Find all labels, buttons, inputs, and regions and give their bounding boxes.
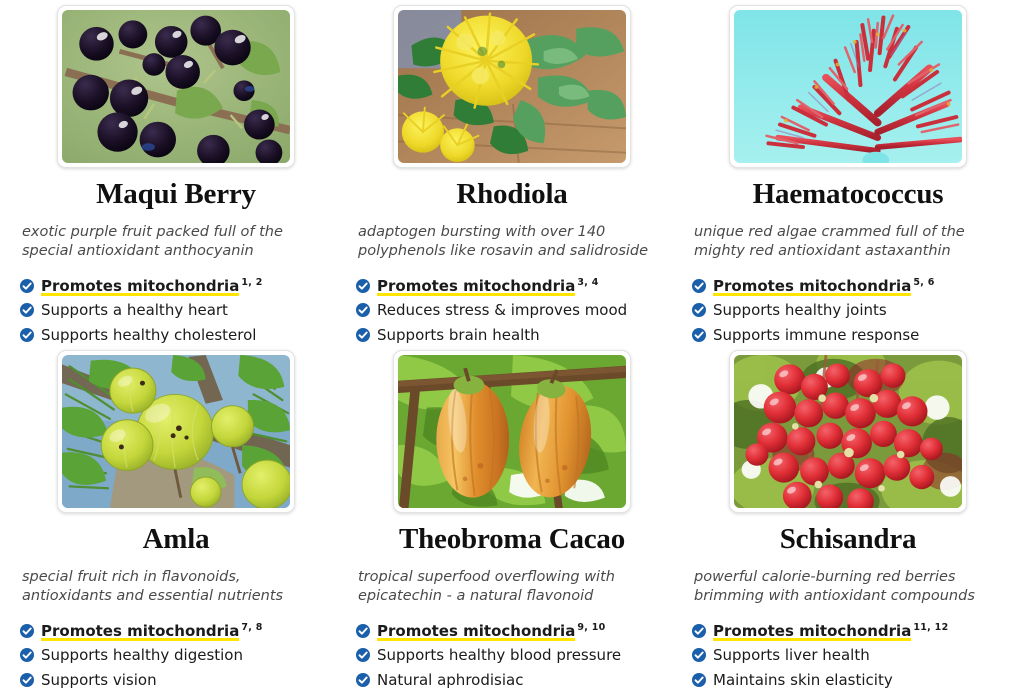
ingredient-card: Rhodiola adaptogen bursting with over 14… bbox=[344, 0, 680, 345]
benefit-item: Natural aphrodisiac bbox=[356, 670, 668, 691]
ingredient-title: Schisandra bbox=[692, 524, 1004, 555]
benefit-item: Supports healthy joints bbox=[692, 300, 1004, 321]
reference-superscript: 3, 4 bbox=[577, 277, 598, 288]
ingredient-card: Haematococcus unique red algae crammed f… bbox=[680, 0, 1016, 345]
benefit-item: Maintains skin elasticity bbox=[692, 670, 1004, 691]
benefit-item: Reduces stress & improves mood bbox=[356, 300, 668, 321]
ingredient-description: tropical superfood overflowing with epic… bbox=[356, 568, 668, 606]
ingredient-title: Rhodiola bbox=[356, 179, 668, 210]
schisandra-photo bbox=[734, 355, 962, 508]
ingredient-card: Theobroma Cacao tropical superfood overf… bbox=[344, 345, 680, 700]
reference-superscript: 11, 12 bbox=[913, 622, 948, 633]
ingredient-title: Theobroma Cacao bbox=[356, 524, 668, 555]
ingredient-card: Schisandra powerful calorie-burning red … bbox=[680, 345, 1016, 700]
primary-benefit-item: Promotes mitochondria3, 4 bbox=[356, 276, 668, 297]
benefit-list: Promotes mitochondria3, 4 Reduces stress… bbox=[356, 276, 668, 346]
benefit-label: Supports liver health bbox=[713, 646, 870, 664]
benefit-label: Promotes mitochondria bbox=[377, 622, 575, 641]
benefit-item: Supports a healthy heart bbox=[20, 300, 332, 321]
primary-benefit-item: Promotes mitochondria1, 2 bbox=[20, 276, 332, 297]
benefit-list: Promotes mitochondria9, 10 Supports heal… bbox=[356, 621, 668, 691]
benefit-label: Supports healthy joints bbox=[713, 301, 887, 319]
ingredient-description: exotic purple fruit packed full of the s… bbox=[20, 223, 332, 261]
benefit-label: Supports vision bbox=[41, 671, 157, 689]
maqui-berry-photo bbox=[62, 10, 290, 163]
primary-benefit-item: Promotes mitochondria11, 12 bbox=[692, 621, 1004, 642]
ingredient-title: Maqui Berry bbox=[20, 179, 332, 210]
ingredient-title: Haematococcus bbox=[692, 179, 1004, 210]
reference-superscript: 7, 8 bbox=[241, 622, 262, 633]
benefit-list: Promotes mitochondria1, 2 Supports a hea… bbox=[20, 276, 332, 346]
ingredient-photo-frame bbox=[393, 5, 631, 168]
reference-superscript: 9, 10 bbox=[577, 622, 605, 633]
primary-benefit-item: Promotes mitochondria7, 8 bbox=[20, 621, 332, 642]
benefit-label: Reduces stress & improves mood bbox=[377, 301, 627, 319]
benefit-item: Supports brain health bbox=[356, 325, 668, 346]
benefit-label: Supports healthy blood pressure bbox=[377, 646, 621, 664]
benefit-list: Promotes mitochondria5, 6 Supports healt… bbox=[692, 276, 1004, 346]
ingredient-card-grid: Maqui Berry exotic purple fruit packed f… bbox=[0, 0, 1024, 700]
benefit-label: Supports immune response bbox=[713, 326, 919, 344]
benefit-item: Supports healthy digestion bbox=[20, 645, 332, 666]
benefit-item: Supports liver health bbox=[692, 645, 1004, 666]
ingredient-card: Maqui Berry exotic purple fruit packed f… bbox=[8, 0, 344, 345]
benefit-label: Promotes mitochondria bbox=[377, 277, 575, 296]
benefit-label: Promotes mitochondria bbox=[41, 622, 239, 641]
amla-photo bbox=[62, 355, 290, 508]
benefit-item: Supports healthy cholesterol bbox=[20, 325, 332, 346]
benefit-label: Natural aphrodisiac bbox=[377, 671, 523, 689]
ingredient-photo-frame bbox=[57, 350, 295, 513]
benefit-label: Supports healthy digestion bbox=[41, 646, 243, 664]
ingredient-description: unique red algae crammed full of the mig… bbox=[692, 223, 1004, 261]
benefit-label: Maintains skin elasticity bbox=[713, 671, 893, 689]
primary-benefit-item: Promotes mitochondria5, 6 bbox=[692, 276, 1004, 297]
haematococcus-photo bbox=[734, 10, 962, 163]
ingredient-photo-frame bbox=[57, 5, 295, 168]
benefit-label: Supports brain health bbox=[377, 326, 540, 344]
benefit-list: Promotes mitochondria11, 12 Supports liv… bbox=[692, 621, 1004, 691]
ingredient-description: adaptogen bursting with over 140 polyphe… bbox=[356, 223, 668, 261]
ingredient-title: Amla bbox=[20, 524, 332, 555]
theobroma-cacao-photo bbox=[398, 355, 626, 508]
ingredient-description: special fruit rich in flavonoids, antiox… bbox=[20, 568, 332, 606]
ingredient-photo-frame bbox=[393, 350, 631, 513]
primary-benefit-item: Promotes mitochondria9, 10 bbox=[356, 621, 668, 642]
benefit-item: Supports vision bbox=[20, 670, 332, 691]
ingredient-description: powerful calorie-burning red berries bri… bbox=[692, 568, 1004, 606]
ingredient-card: Amla special fruit rich in flavonoids, a… bbox=[8, 345, 344, 700]
benefit-item: Supports immune response bbox=[692, 325, 1004, 346]
benefit-label: Supports a healthy heart bbox=[41, 301, 228, 319]
benefit-label: Promotes mitochondria bbox=[41, 277, 239, 296]
benefit-list: Promotes mitochondria7, 8 Supports healt… bbox=[20, 621, 332, 691]
reference-superscript: 1, 2 bbox=[241, 277, 262, 288]
benefit-item: Supports healthy blood pressure bbox=[356, 645, 668, 666]
benefit-label: Supports healthy cholesterol bbox=[41, 326, 256, 344]
benefit-label: Promotes mitochondria bbox=[713, 277, 911, 296]
reference-superscript: 5, 6 bbox=[913, 277, 934, 288]
ingredient-photo-frame bbox=[729, 5, 967, 168]
ingredient-photo-frame bbox=[729, 350, 967, 513]
rhodiola-photo bbox=[398, 10, 626, 163]
benefit-label: Promotes mitochondria bbox=[713, 622, 911, 641]
